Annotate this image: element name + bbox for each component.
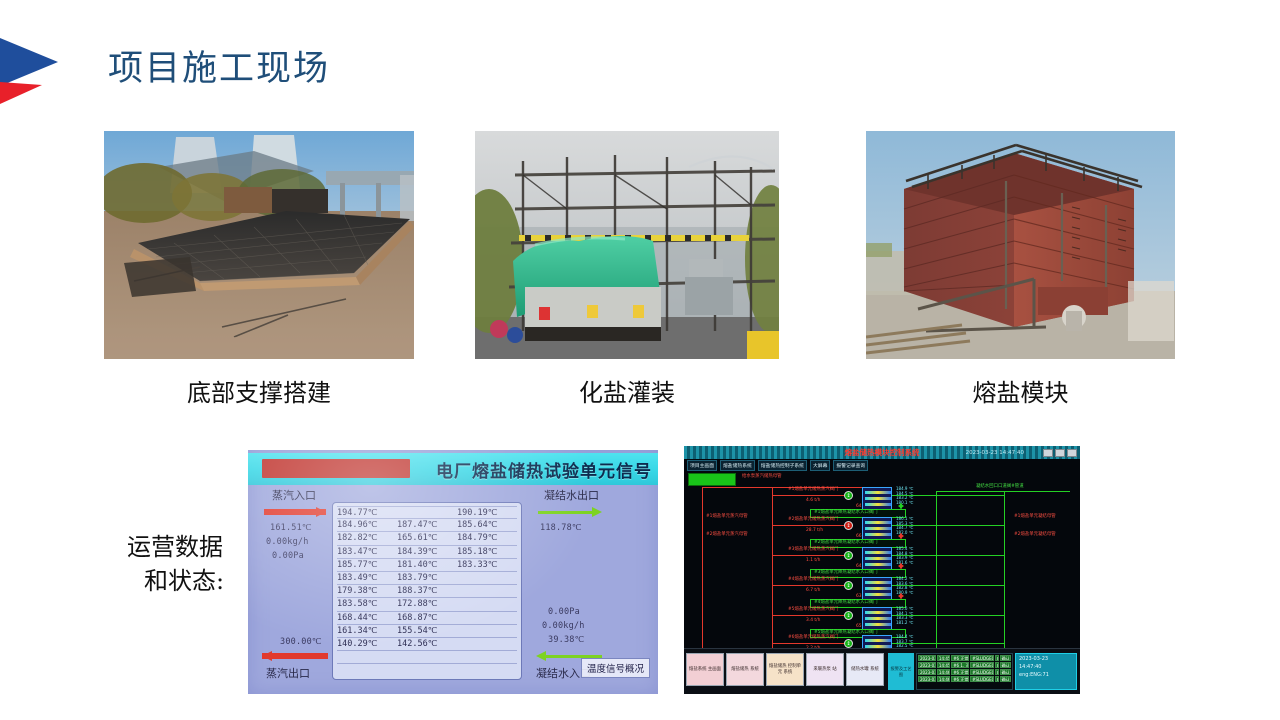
scada-titlebar: 熔盐储热模块控制系统 2023-03-23 14:47:40	[684, 446, 1080, 459]
hmi-header-bar: 电厂熔盐储热试验单元信号	[248, 453, 658, 485]
pipe-red-run	[772, 495, 844, 496]
scada-status-panel: 2023-03-23 14:47:40 eng:ENG:71	[1015, 653, 1077, 690]
temp-cell: 184.39℃	[397, 547, 457, 557]
table-row: 185.77℃ 181.40℃ 183.33℃	[337, 559, 517, 572]
pipe-green-run	[892, 643, 1004, 644]
photo-salt-filling	[475, 131, 779, 359]
pipe-red-run	[772, 555, 844, 556]
temperature-overview-button[interactable]: 温度信号概况	[581, 658, 650, 678]
steam-valve-icon[interactable]: ↕	[844, 639, 853, 648]
alarm-panel-label: 报警及工艺图	[888, 653, 914, 690]
close-icon[interactable]	[1067, 449, 1077, 457]
water-valve-label: #4熔盐单元降热凝结水入口阀门	[814, 601, 878, 605]
alarm-state: 自动+自动状态	[995, 676, 999, 682]
hmi-outlet-temp: 118.78℃	[540, 523, 582, 533]
left-header-label: 给水泵蒸汽储热母管	[742, 475, 782, 479]
table-row: 182.82℃ 165.61℃ 184.79℃	[337, 532, 517, 545]
temp-cell: 182.82℃	[337, 533, 397, 543]
alarm-desc: #SLUDGE04.000	[970, 669, 993, 675]
alarm-code: 14:46:31	[937, 676, 950, 682]
alarm-state: 自动+自动状态	[995, 655, 999, 661]
temp-cell: 181.40℃	[397, 560, 457, 570]
steam-flow-value: 4.6 t/h	[806, 499, 820, 503]
nav-button-water-tank[interactable]: 储热水罐 系统	[846, 653, 884, 686]
menu-item-alarm-query[interactable]: 报警记录查询	[833, 460, 868, 471]
steam-flow-value: 28.7 t/h	[806, 529, 823, 533]
scada-titlebar-datetime: 2023-03-23 14:47:40	[966, 450, 1024, 456]
temp-cell: 183.49℃	[337, 573, 397, 583]
alarm-state: 自动+自动状态	[995, 662, 999, 668]
menu-item-bigscreen[interactable]: 大屏幕	[810, 460, 830, 471]
steam-valve-label: #6熔盐单元储热蒸汽阀门	[788, 636, 838, 640]
window-controls[interactable]	[1043, 449, 1077, 457]
temp-cell: 140.29℃	[337, 639, 397, 649]
pipe-green-run	[892, 525, 1004, 526]
slide-root: 项目施工现场	[0, 0, 1280, 720]
hmi-steam-outlet-label: 蒸汽出口	[266, 665, 310, 681]
arrow-logo	[0, 30, 62, 112]
ops-label-line2: 和状态:	[100, 564, 250, 598]
photo-salt-module	[866, 131, 1175, 359]
sensor-readouts: 185.0 ℃ 184.1 ℃ 183.3 ℃ 181.2 ℃	[896, 607, 913, 625]
alarm-ack[interactable]: 确认	[1000, 669, 1011, 675]
steam-valve-label: #1熔盐单元储热蒸汽阀门	[788, 488, 838, 492]
steam-valve-label: #4熔盐单元储热蒸汽阀门	[788, 578, 838, 582]
temp-cell: 185.18℃	[457, 547, 517, 557]
temp-cell: 194.77℃	[337, 508, 397, 518]
pipe-green-run	[892, 585, 1004, 586]
left-tag-2: #2熔盐单元蒸汽母管	[706, 533, 748, 537]
pipe-red-run	[772, 585, 844, 586]
pipe-green-riser	[936, 491, 937, 649]
pipe-red-run	[772, 525, 844, 526]
table-row: 184.96℃ 187.47℃ 185.64℃	[337, 519, 517, 532]
water-valve-label: #2熔盐单元降热凝结水入口阀门	[814, 541, 878, 545]
alarm-state: 自动+自动状态	[995, 669, 999, 675]
temp-cell: 185.64℃	[457, 520, 517, 530]
temp-cell: 183.47℃	[337, 547, 397, 557]
alarm-tag: #6 1. 正常 F4.0	[951, 662, 969, 668]
nav-button-heat-pump[interactable]: 来暖热泵 站	[806, 653, 844, 686]
alarm-tag: #6 正常 F4.0	[951, 676, 969, 682]
condensate-outlet-arrow-icon	[538, 509, 602, 515]
hmi-steam-inlet-label: 蒸汽入口	[272, 487, 316, 503]
scada-menubar[interactable]: 项目主画面 熔盐储热系统 熔盐储热控制子系统 大屏幕 报警记录查询	[684, 460, 1080, 471]
alarm-code: 14:45:47	[937, 662, 950, 668]
temp-cell: 185.77℃	[337, 560, 397, 570]
temp-cell: 172.88℃	[397, 599, 457, 609]
temp-cell: 155.54℃	[397, 626, 457, 636]
temp-cell: 190.19℃	[457, 508, 517, 518]
table-row: 140.29℃ 142.56℃	[337, 638, 517, 651]
alarm-time: 2023-03-23	[918, 669, 936, 675]
table-row: 183.47℃ 184.39℃ 185.18℃	[337, 546, 517, 559]
table-row: 168.44℃ 168.87℃	[337, 612, 517, 625]
temp-cell: 168.44℃	[337, 613, 397, 623]
sensor-value: 181.2 ℃	[896, 621, 913, 626]
alarm-row[interactable]: 2023-03-23 14:45:47 #6 1. 正常 F4.0 #SLUDG…	[917, 661, 1012, 668]
redaction-block	[262, 459, 410, 478]
hmi-body: 蒸汽入口 161.51℃ 0.00kg/h 0.00Pa 凝结水出口 118.7…	[248, 485, 658, 682]
alarm-ack[interactable]: 确认	[1000, 655, 1011, 661]
maximize-icon[interactable]	[1055, 449, 1065, 457]
steam-valve-icon[interactable]: ↕	[844, 611, 853, 620]
pipe-red-run	[772, 643, 844, 644]
hmi-inlet-temp: 161.51℃	[270, 523, 312, 533]
table-row: 161.34℃ 155.54℃	[337, 625, 517, 638]
alarm-time: 2023-03-23	[918, 676, 936, 682]
table-row	[337, 651, 517, 664]
left-tag-1: #1熔盐单元蒸汽母管	[706, 515, 748, 519]
page-title: 项目施工现场	[108, 40, 330, 91]
photo-caption-1: 底部支撑搭建	[104, 373, 414, 408]
water-valve-label: #1熔盐单元降热凝结水入口阀门	[814, 511, 878, 515]
right-tag-1: #1熔盐单元凝结母管	[1014, 515, 1056, 519]
status-date: 2023-03-23	[1019, 656, 1073, 664]
menu-item-main[interactable]: 项目主画面	[687, 460, 717, 471]
steam-flow-value: 1.1 t/h	[806, 559, 820, 563]
pipe-red-branch-main	[772, 487, 773, 649]
operations-data-label: 运营数据 和状态:	[100, 530, 250, 598]
alarm-ack[interactable]: 确认	[1000, 676, 1011, 682]
nav-button-storage-system[interactable]: 熔盐储热 系统	[726, 653, 764, 686]
temp-cell: 179.38℃	[337, 586, 397, 596]
nav-button-control-unit[interactable]: 熔盐储热 控制单元 系统	[766, 653, 804, 686]
temp-cell: 142.56℃	[397, 639, 457, 649]
pipe-green-run	[892, 495, 1004, 496]
photo-caption-2: 化盐灌装	[475, 373, 779, 408]
steam-valve-icon[interactable]: ↕	[844, 551, 853, 560]
scada-process-diagram: 给水泵蒸汽储热母管 凝结水回口口道阀#管道 #1熔盐单元蒸汽母管 #2熔盐单元蒸…	[684, 471, 1080, 648]
hmi-condensate-outlet-label: 凝结水出口	[544, 487, 599, 503]
right-tag-2: #2熔盐单元凝结母管	[1014, 533, 1056, 537]
hmi-inlet-flow: 0.00kg/h	[266, 537, 309, 547]
alarm-log-table[interactable]: 2023-03-23 14:45:12 #6 正常 F4.0 #SLUDGE04…	[916, 653, 1013, 690]
steam-valve-label: #2熔盐单元储热蒸汽阀门	[788, 518, 838, 522]
steam-outlet-arrow-icon	[262, 653, 328, 659]
alarm-code: 14:46:02	[937, 669, 950, 675]
photo-bottom-support	[104, 131, 414, 359]
menu-item-control-subsystem[interactable]: 熔盐储热控制子系统	[758, 460, 807, 471]
right-header-label: 凝结水回口口道阀#管道	[976, 485, 1024, 489]
scada-control-screen: 熔盐储热模块控制系统 2023-03-23 14:47:40 项目主画面 熔盐储…	[684, 446, 1080, 694]
hmi-outlet-flow: 0.00kg/h	[542, 621, 585, 631]
pipe-green-run	[892, 615, 1004, 616]
temp-cell: 183.79℃	[397, 573, 457, 583]
photo-caption-3: 熔盐模块	[866, 373, 1175, 408]
temp-cell: 161.34℃	[337, 626, 397, 636]
alarm-time: 2023-03-23	[918, 662, 936, 668]
hmi-inlet-pressure: 0.00Pa	[272, 551, 304, 561]
alarm-time: 2023-03-23	[918, 655, 936, 661]
table-row: 179.38℃ 188.37℃	[337, 585, 517, 598]
water-valve-label: #3熔盐单元降热凝结水入口阀门	[814, 571, 878, 575]
steam-flow-value: 3.4 t/h	[806, 619, 820, 623]
temp-cell: 184.96℃	[337, 520, 397, 530]
temp-cell: 188.37℃	[397, 586, 457, 596]
temp-cell: 183.58℃	[337, 599, 397, 609]
nav-button-main-screen[interactable]: 熔盐系统 主画面	[686, 653, 724, 686]
steam-flow-value: 6.7 t/h	[806, 589, 820, 593]
scada-window-title: 熔盐储热模块控制系统	[845, 447, 920, 458]
minimize-icon[interactable]	[1043, 449, 1053, 457]
table-row: 183.49℃ 183.79℃	[337, 572, 517, 585]
steam-valve-icon[interactable]: ↕	[844, 581, 853, 590]
ops-label-line1: 运营数据	[100, 530, 250, 564]
steam-valve-icon[interactable]: ↕	[844, 521, 853, 530]
scada-bottom-bar: 熔盐系统 主画面 熔盐储热 系统 熔盐储热 控制单元 系统 来暖热泵 站 储热水…	[684, 648, 1080, 694]
hmi-outlet-pressure: 0.00Pa	[548, 607, 580, 617]
steam-valve-label: #3熔盐单元储热蒸汽阀门	[788, 548, 838, 552]
temp-cell: 187.47℃	[397, 520, 457, 530]
temp-cell: 184.79℃	[457, 533, 517, 543]
pipe-green-branch-main	[1004, 491, 1005, 649]
pipe-green-header	[936, 491, 1070, 492]
pipe-red-riser	[702, 487, 703, 649]
alarm-row[interactable]: 2023-03-23 14:45:12 #6 正常 F4.0 #SLUDGE04…	[917, 654, 1012, 661]
alarm-desc: #SLUDGE04.000	[970, 655, 993, 661]
steam-valve-icon[interactable]: ↕	[844, 491, 853, 500]
menu-item-storage-system[interactable]: 熔盐储热系统	[720, 460, 755, 471]
hmi-signal-screen: 电厂熔盐储热试验单元信号 蒸汽入口 161.51℃ 0.00kg/h 0.00P…	[248, 450, 658, 694]
temp-cell: 165.61℃	[397, 533, 457, 543]
alarm-tag: #6 正常 F4.0	[951, 655, 969, 661]
alarm-code: 14:45:12	[937, 655, 950, 661]
alarm-row[interactable]: 2023-03-23 14:46:31 #6 正常 F4.0 #SLUDGE04…	[917, 675, 1012, 682]
alarm-desc: #SLUDGE04.000	[970, 676, 993, 682]
hmi-outlet-bottom-temp: 39.38℃	[548, 635, 584, 645]
status-time: 14:47:40	[1019, 664, 1073, 672]
table-row: 194.77℃ 190.19℃	[337, 506, 517, 519]
alarm-desc: #SLUDGE04.000	[970, 662, 993, 668]
pipe-red-run	[772, 615, 844, 616]
alarm-row[interactable]: 2023-03-23 14:46:02 #6 正常 F4.0 #SLUDGE04…	[917, 668, 1012, 675]
pipe-green-run	[892, 555, 1004, 556]
steam-inlet-arrow-icon	[264, 509, 326, 515]
hmi-steam-outlet-temp: 300.00℃	[280, 637, 322, 647]
steam-valve-label: #5熔盐单元储热蒸汽阀门	[788, 608, 838, 612]
scada-nav-buttons[interactable]: 熔盐系统 主画面 熔盐储热 系统 熔盐储热 控制单元 系统 来暖热泵 站 储热水…	[684, 649, 886, 694]
temp-cell: 168.87℃	[397, 613, 457, 623]
temp-cell: 183.33℃	[457, 560, 517, 570]
table-row: 183.58℃ 172.88℃	[337, 598, 517, 611]
hmi-temperature-table: 194.77℃ 190.19℃ 184.96℃ 187.47℃ 185.64℃ …	[332, 502, 522, 680]
hmi-title: 电厂熔盐储热试验单元信号	[436, 457, 652, 482]
status-eng: eng:ENG:71	[1019, 672, 1073, 680]
alarm-ack[interactable]: 确认	[1000, 662, 1011, 668]
alarm-tag: #6 正常 F4.0	[951, 669, 969, 675]
